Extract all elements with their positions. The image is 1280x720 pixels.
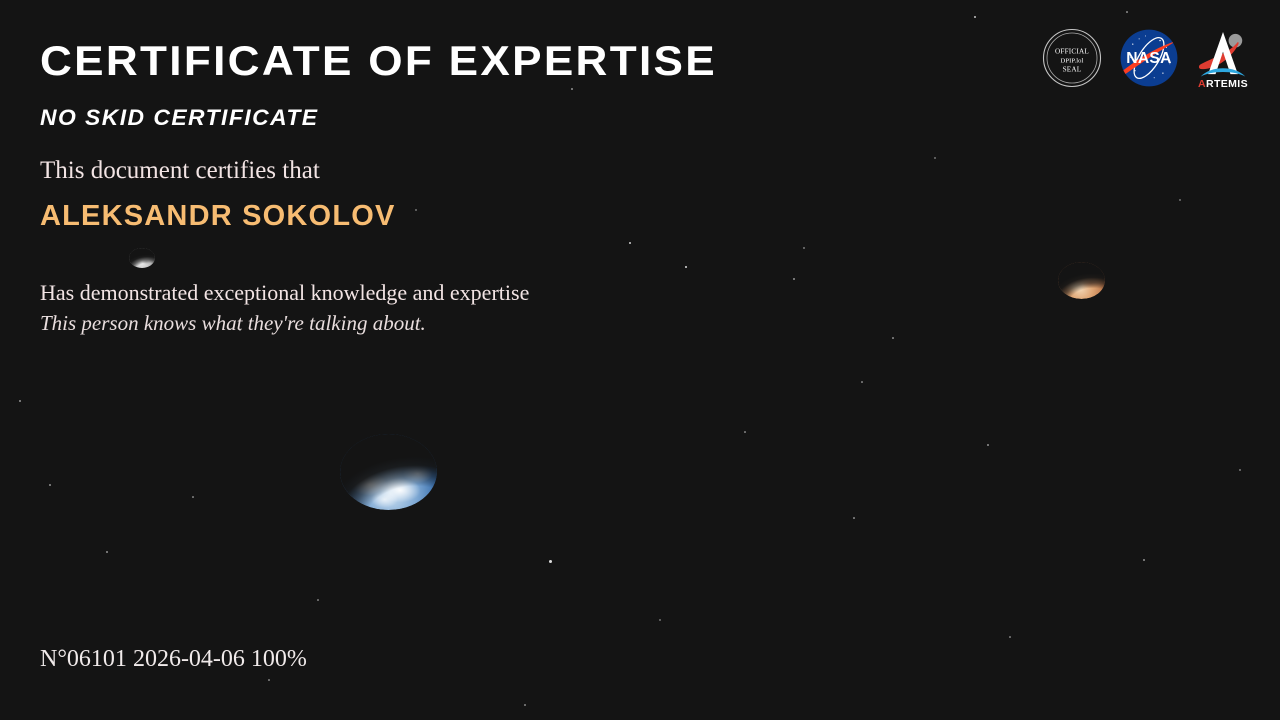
star [524,704,526,706]
certificate-subtitle: NO SKID CERTIFICATE [40,107,319,129]
mars-terminator-shadow [1058,262,1105,299]
star [974,16,976,18]
star [629,242,632,245]
star [19,400,21,402]
star [1009,636,1011,638]
flavor-statement: This person knows what they're talking a… [40,310,426,337]
star [987,444,989,446]
official-seal-logo: OFFICIAL DPIP.lol SEAL [1042,28,1102,88]
star [861,381,863,383]
moon-graphic [129,248,155,268]
certificate-number: N°06101 [40,646,127,672]
star [1126,11,1128,13]
seal-line-1: OFFICIAL [1055,48,1089,56]
star [803,247,804,248]
seal-line-3: SEAL [1063,66,1082,74]
moon-terminator-shadow [129,248,155,268]
star [793,278,795,280]
certificate-canvas: CERTIFICATE OF EXPERTISE NO SKID CERTIFI… [0,0,1280,720]
recipient-name: ALEKSANDR SOKOLOV [40,199,396,234]
certificate-title: CERTIFICATE OF EXPERTISE [40,40,717,82]
mars-graphic [1058,262,1105,299]
star [192,496,194,498]
nasa-meatball-logo: NASA [1120,29,1178,87]
artemis-wordmark-accent: A [1198,78,1206,89]
seal-line-2: DPIP.lol [1061,58,1084,65]
star [1179,199,1180,200]
earth-graphic [340,434,437,510]
star [49,484,51,486]
artemis-wordmark: ARTEMIS [1198,78,1248,89]
artemis-logo: ARTEMIS [1192,27,1254,89]
star [1143,559,1145,561]
artemis-wordmark-rest: RTEMIS [1206,78,1248,89]
nasa-wordmark: NASA [1126,50,1172,67]
certificate-footer: N°06101 2026-04-06 100% [40,645,307,674]
star [659,619,660,620]
star [415,209,416,210]
star [744,431,746,433]
star [1239,469,1240,470]
issue-date: 2026-04-06 [133,646,245,672]
star [571,88,573,90]
logo-row: OFFICIAL DPIP.lol SEAL [1042,25,1254,91]
earth-terminator-shadow [340,434,437,510]
artemis-blue-arc [1201,68,1246,76]
star [685,266,688,269]
star [268,679,270,681]
star [106,551,108,553]
certifies-statement: This document certifies that [40,155,320,186]
star [853,517,855,519]
star [892,337,894,339]
star [934,157,935,158]
score-value: 100% [251,646,307,672]
achievement-statement: Has demonstrated exceptional knowledge a… [40,279,529,308]
star [317,599,319,601]
star [549,560,552,563]
